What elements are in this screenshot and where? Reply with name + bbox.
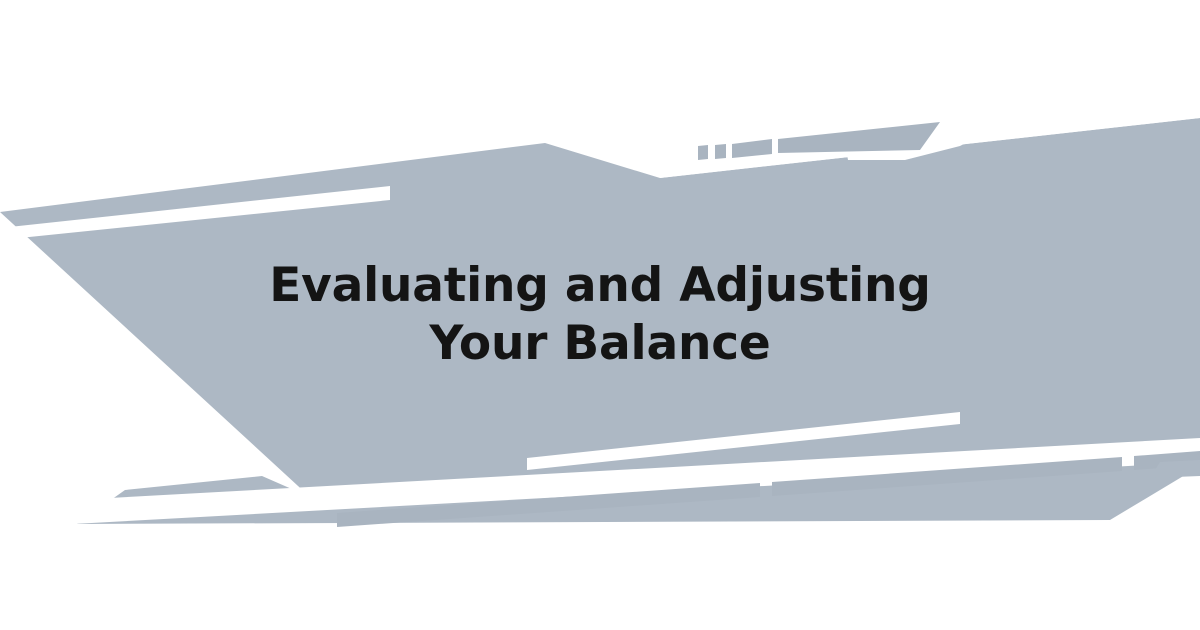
- banner-canvas: Evaluating and Adjusting Your Balance: [0, 0, 1200, 630]
- top-dash-bar-1: [732, 139, 772, 158]
- top-dash-bar-2: [778, 122, 940, 153]
- top-dash-square-2: [715, 144, 726, 159]
- top-dash-square-1: [698, 145, 708, 160]
- background-decoration: [0, 0, 1200, 630]
